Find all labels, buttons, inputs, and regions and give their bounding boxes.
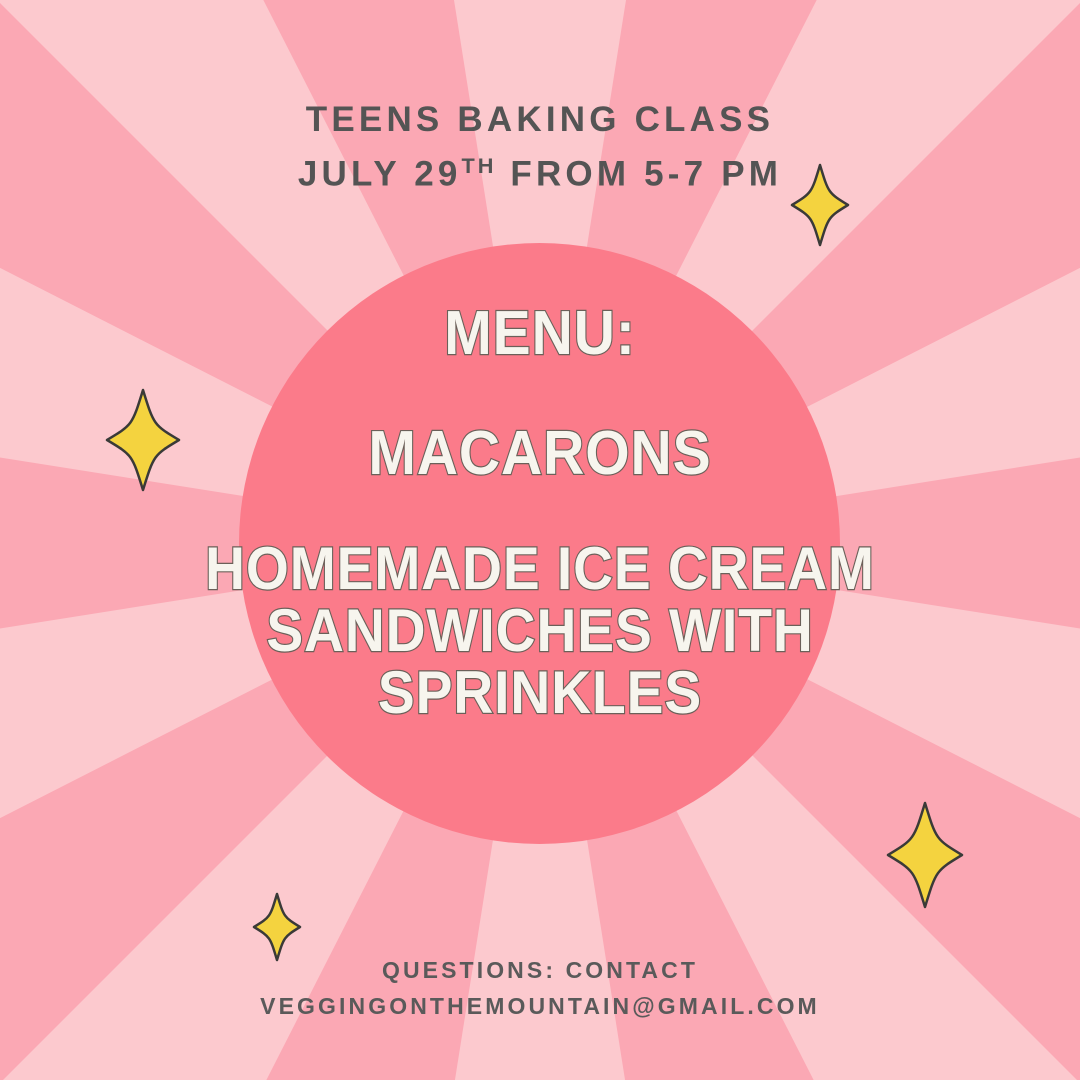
sparkle-bottom-right	[888, 803, 962, 907]
footer-questions-label: QUESTIONS: CONTACT	[0, 952, 1080, 988]
footer-contact-block: QUESTIONS: CONTACT VEGGINGONTHEMOUNTAIN@…	[0, 952, 1080, 1024]
menu-text-block: MENU: MACARONS HOMEMADE ICE CREAM SANDWI…	[160, 300, 920, 724]
header-date-ordinal: TH	[462, 153, 497, 178]
header-date-suffix: FROM 5-7 PM	[496, 155, 782, 194]
menu-item-ice-cream-line-3: SPRINKLES	[190, 662, 889, 724]
menu-item-ice-cream-line-1: HOMEMADE ICE CREAM	[190, 538, 889, 600]
header-title: TEENS BAKING CLASS	[0, 97, 1080, 143]
menu-item-ice-cream-line-2: SANDWICHES WITH	[190, 600, 889, 662]
menu-item-macarons: MACARONS	[190, 420, 889, 488]
sparkle-bottom-left	[254, 894, 300, 960]
poster-canvas: TEENS BAKING CLASS JULY 29TH FROM 5-7 PM…	[0, 0, 1080, 1080]
header-date: JULY 29TH FROM 5-7 PM	[0, 143, 1080, 198]
header-text-block: TEENS BAKING CLASS JULY 29TH FROM 5-7 PM	[0, 97, 1080, 198]
header-date-prefix: JULY 29	[298, 155, 462, 194]
footer-email-address: VEGGINGONTHEMOUNTAIN@GMAIL.COM	[0, 988, 1080, 1024]
menu-heading: MENU:	[190, 300, 889, 368]
